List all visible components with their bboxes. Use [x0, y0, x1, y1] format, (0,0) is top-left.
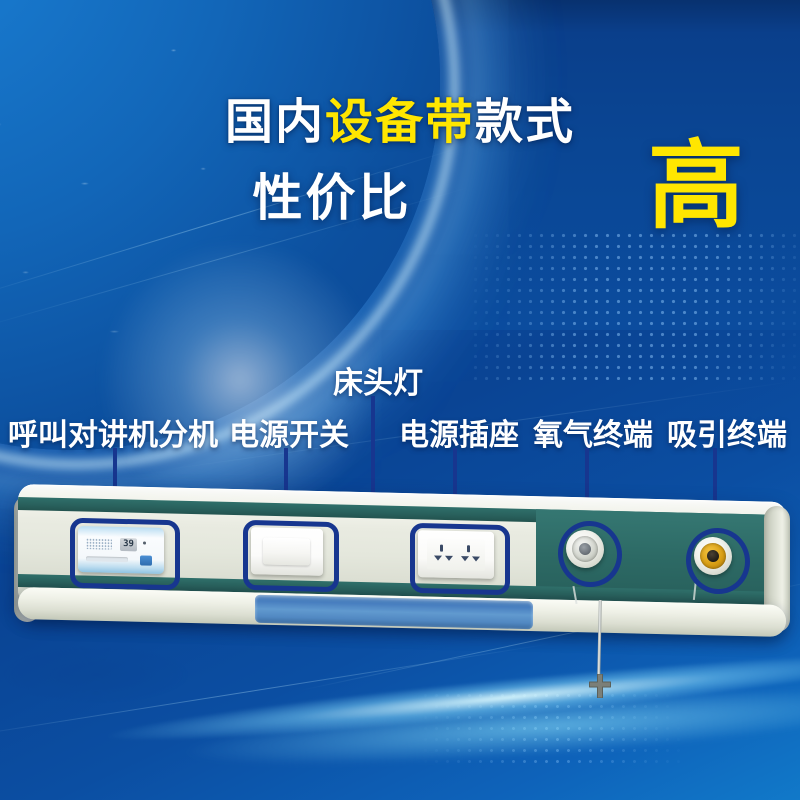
highlight-power-switch [243, 520, 339, 592]
halftone-dots-top-right [470, 230, 800, 380]
highlight-suction-terminal [686, 527, 750, 595]
highlight-power-socket [410, 523, 510, 595]
product-banner: 国内设备带款式 性价比 高 呼叫对讲机分机 电源开关 床头灯 电源插座 氧气终端… [0, 0, 800, 800]
highlight-oxygen-terminal [558, 520, 622, 588]
headline-part1: 国内 [225, 94, 325, 150]
callout-label-power-switch: 电源开关 [229, 410, 349, 454]
callout-label-suction-terminal: 吸引终端 [667, 410, 787, 454]
subheadline: 性价比 [52, 158, 612, 230]
pull-cord-cross-handle-icon[interactable] [588, 674, 612, 698]
highlight-nurse-call-intercom [70, 518, 180, 591]
callout-label-oxygen-terminal: 氧气终端 [533, 410, 653, 454]
headline-big-char: 高 [648, 138, 744, 234]
callout-label-power-socket: 电源插座 [399, 410, 519, 454]
callout-label-bed-head-lamp: 床头灯 [333, 358, 423, 402]
headline-part2: 款式 [475, 94, 575, 150]
headline-highlight: 设备带 [325, 94, 475, 150]
